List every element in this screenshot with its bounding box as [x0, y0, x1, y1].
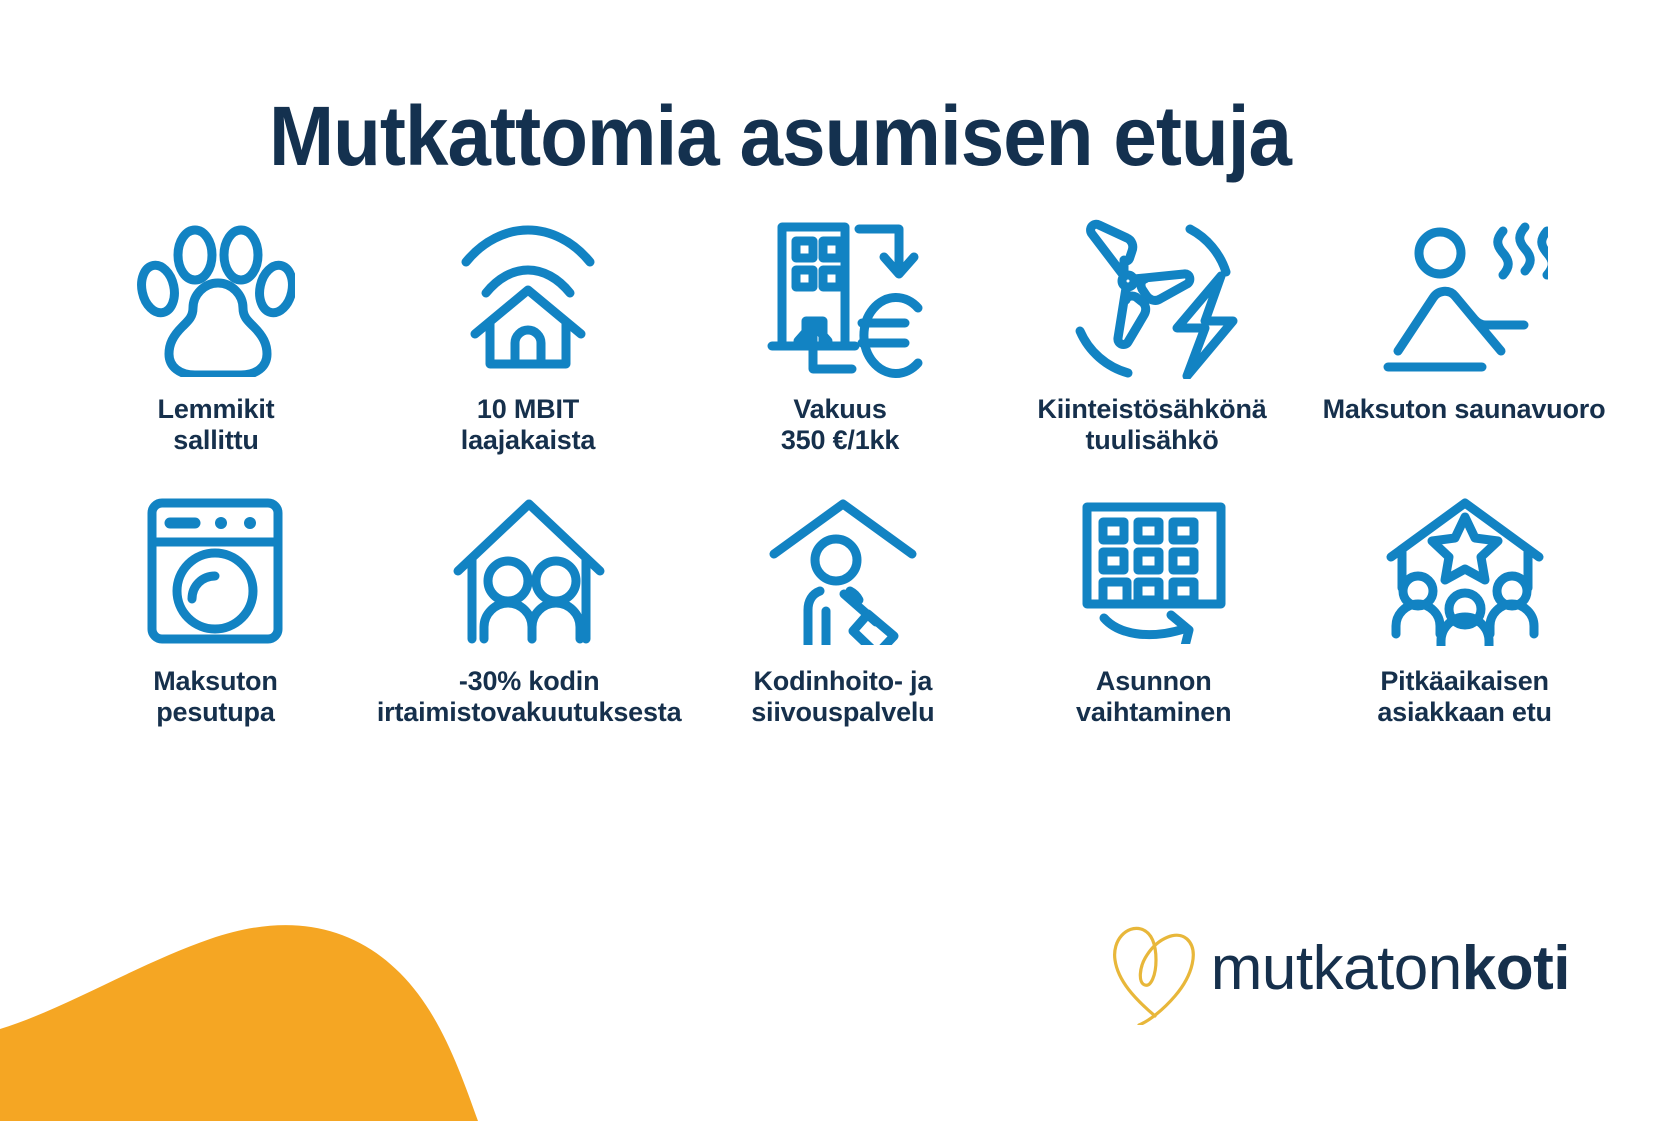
benefit-item-broadband[interactable]: 10 MBIT laajakaista — [372, 214, 684, 486]
building-euro-exchange-icon — [755, 214, 925, 384]
benefit-item-sauna[interactable]: Maksuton saunavuoro — [1308, 214, 1620, 486]
benefit-item-apartment-swap[interactable]: Asunnon vaihtaminen — [998, 486, 1309, 786]
heart-outline-icon — [1111, 913, 1197, 1025]
wind-turbine-bolt-icon — [1066, 214, 1238, 384]
benefit-label: Asunnon vaihtaminen — [1076, 666, 1231, 729]
washing-machine-icon — [145, 486, 285, 656]
page-title: Mutkattomia asumisen etuja — [55, 94, 1506, 178]
paw-print-icon — [137, 214, 295, 384]
benefit-label: -30% kodin irtaimistovakuutuksesta — [377, 666, 682, 729]
wifi-house-icon — [453, 214, 603, 384]
benefit-item-laundry[interactable]: Maksuton pesutupa — [60, 486, 371, 786]
benefit-label: Maksuton pesutupa — [153, 666, 277, 729]
benefit-label: Vakuus 350 €/1kk — [781, 394, 899, 457]
benefit-label: Kiinteistösähkönä tuulisähkö — [1037, 394, 1266, 457]
benefit-label: Maksuton saunavuoro — [1323, 394, 1606, 425]
decorative-orange-shape — [0, 861, 500, 1121]
logo-name-light: mutkaton — [1211, 934, 1462, 1003]
benefit-label: Kodinhoito- ja siivouspalvelu — [751, 666, 934, 729]
benefit-item-loyalty[interactable]: Pitkäaikaisen asiakkaan etu — [1309, 486, 1620, 786]
benefit-item-pets[interactable]: Lemmikit sallittu — [60, 214, 372, 486]
benefits-row-2: Maksuton pesutupa -30% kodin irtaimistov… — [60, 486, 1620, 786]
benefit-item-insurance-discount[interactable]: -30% kodin irtaimistovakuutuksesta — [371, 486, 688, 786]
family-house-icon — [450, 486, 608, 656]
loyalty-star-house-icon — [1382, 486, 1548, 656]
logo-wordmark: mutkatonkoti — [1211, 938, 1570, 1000]
benefit-label: 10 MBIT laajakaista — [461, 394, 595, 457]
benefits-row-1: Lemmikit sallittu 10 MBIT laajakaista — [60, 214, 1620, 486]
sauna-bather-icon — [1380, 214, 1548, 384]
benefit-label: Pitkäaikaisen asiakkaan etu — [1377, 666, 1552, 729]
benefit-item-cleaning[interactable]: Kodinhoito- ja siivouspalvelu — [687, 486, 998, 786]
cleaning-person-icon — [764, 486, 922, 656]
logo-name-bold: koti — [1462, 934, 1570, 1003]
benefits-grid: Lemmikit sallittu 10 MBIT laajakaista — [60, 214, 1620, 786]
benefit-label: Lemmikit sallittu — [158, 394, 275, 457]
brand-logo[interactable]: mutkatonkoti — [1111, 913, 1570, 1025]
apartment-swap-icon — [1072, 486, 1236, 656]
benefit-item-deposit[interactable]: Vakuus 350 €/1kk — [684, 214, 996, 486]
benefit-item-wind-power[interactable]: Kiinteistösähkönä tuulisähkö — [996, 214, 1308, 486]
